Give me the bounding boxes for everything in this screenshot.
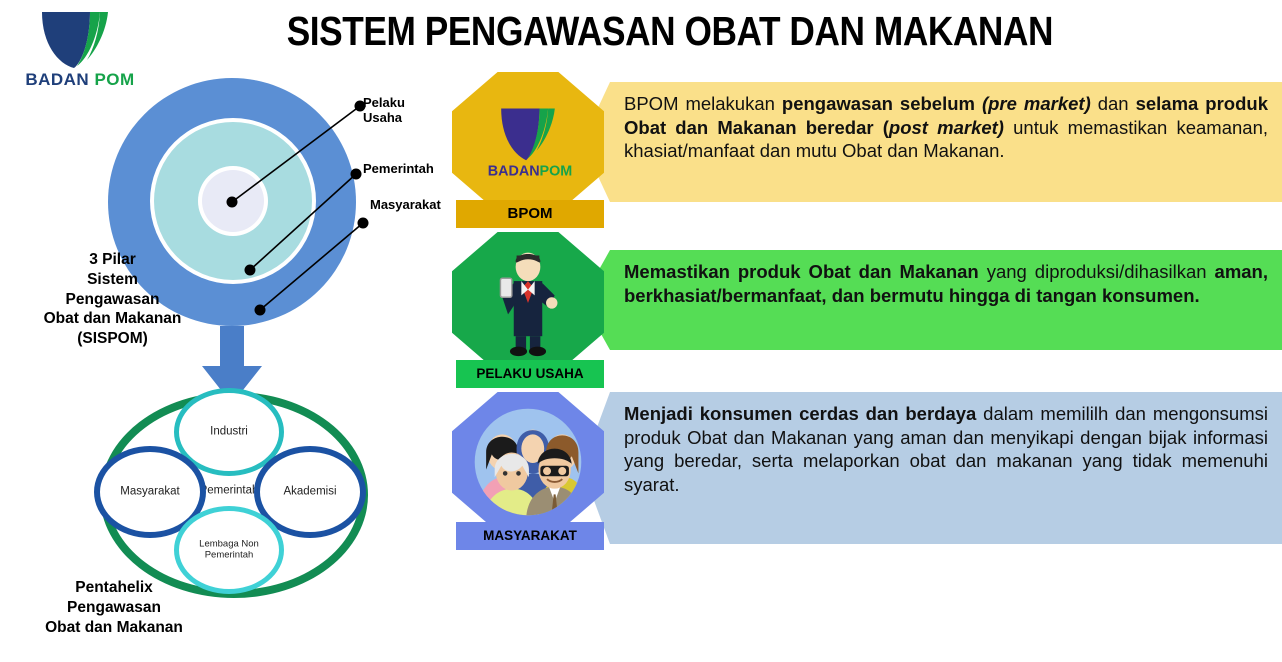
- pentahelix-label-lembaga-non-pemerintah: Lembaga Non Pemerintah: [179, 539, 279, 560]
- sispom-caption: 3 Pilar Sistem Pengawasan Obat dan Makan…: [0, 250, 225, 349]
- businessman-icon: [490, 245, 566, 359]
- people-group-icon: [469, 403, 587, 521]
- pentahelix-caption: Pentahelix Pengawasan Obat dan Makanan: [0, 578, 228, 637]
- pillar-masyarakat-text: Menjadi konsumen cerdas dan berdaya dala…: [582, 392, 1282, 544]
- pentahelix-label-industri: Industri: [179, 426, 279, 439]
- page-title: SISTEM PENGAWASAN OBAT DAN MAKANAN: [287, 8, 984, 55]
- pillar-masyarakat-badge: [452, 392, 604, 532]
- sispom-caption-line5: (SISPOM): [0, 329, 225, 349]
- pentahelix-label-masyarakat: Masyarakat: [100, 486, 200, 499]
- sispom-caption-line3: Pengawasan: [0, 290, 225, 310]
- label-pemerintah: Pemerintah: [363, 162, 434, 177]
- badan-pom-logo-mark: [32, 10, 128, 70]
- svg-text:POM: POM: [540, 164, 573, 180]
- pillar-pelaku-usaha-text: Memastikan produk Obat dan Makanan yang …: [582, 250, 1282, 350]
- pillar-bpom-tab: BPOM: [456, 200, 604, 228]
- pillar-pelaku-usaha-tab: PELAKU USAHA: [456, 360, 604, 388]
- pentahelix-caption-line3: Obat dan Makanan: [0, 618, 228, 638]
- sispom-caption-line1: 3 Pilar: [0, 250, 225, 270]
- lembaga-line2: Pemerintah: [179, 550, 279, 561]
- pentahelix-caption-line2: Pengawasan: [0, 598, 228, 618]
- sispom-caption-line2: Sistem: [0, 270, 225, 290]
- badan-pom-logo-icon: BADAN POM: [482, 104, 574, 180]
- pillar-pelaku-usaha-badge: [452, 232, 604, 372]
- svg-text:BADAN: BADAN: [488, 164, 540, 180]
- pentahelix-label-akademisi: Akademisi: [260, 486, 360, 499]
- pillar-bpom-text: BPOM melakukan pengawasan sebelum (pre m…: [582, 82, 1282, 202]
- logo-text-badan: BADAN: [25, 70, 89, 89]
- label-pelaku-usaha: Pelaku Usaha: [363, 96, 405, 126]
- pillar-bpom-badge: BADAN POM: [452, 72, 604, 212]
- pillar-masyarakat-tab: MASYARAKAT: [456, 522, 604, 550]
- pentahelix-diagram: Pemerintah Industri Masyarakat Akademisi…: [78, 390, 378, 586]
- pentahelix-caption-line1: Pentahelix: [0, 578, 228, 598]
- label-pelaku-usaha-line2: Usaha: [363, 111, 405, 126]
- label-pelaku-usaha-line1: Pelaku: [363, 96, 405, 111]
- sispom-caption-line4: Obat dan Makanan: [0, 309, 225, 329]
- label-masyarakat: Masyarakat: [370, 198, 441, 213]
